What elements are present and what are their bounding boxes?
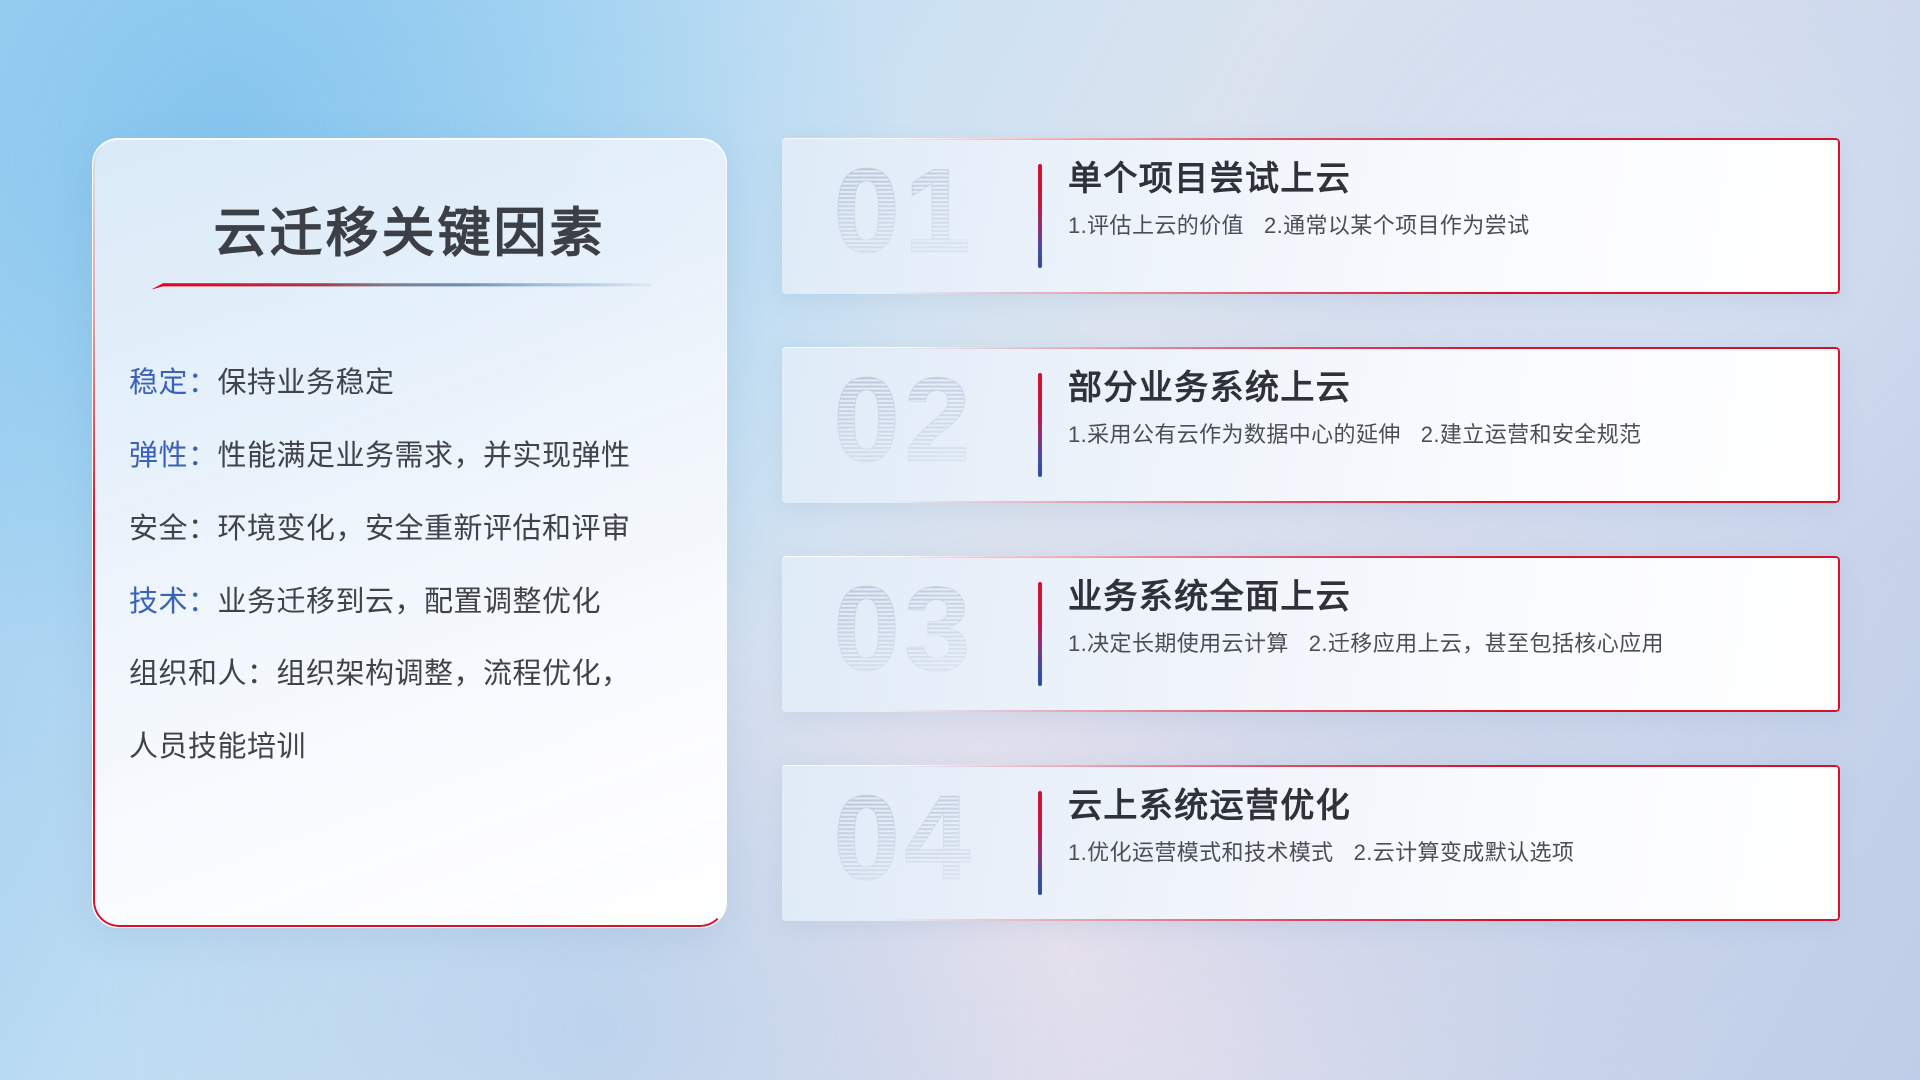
card-title: 业务系统全面上云: [1068, 576, 1814, 620]
list-item: 技术：业务迁移到云，配置调整优化: [129, 583, 696, 622]
card-number-04: 04: [806, 765, 1002, 921]
card-point: 1.评估上云的价值: [1068, 213, 1244, 238]
card-body: 业务系统全面上云 1.决定长期使用云计算2.迁移应用上云，甚至包括核心应用: [1068, 576, 1814, 658]
list-item-text: 业务迁移到云，配置调整优化: [218, 586, 602, 618]
list-item: 稳定：保持业务稳定: [129, 364, 696, 403]
list-item-text: 保持业务稳定: [218, 367, 395, 399]
key-factors-list: 稳定：保持业务稳定 弹性：性能满足业务需求，并实现弹性 安全：环境变化，安全重新…: [129, 364, 696, 767]
svg-text:02: 02: [833, 365, 974, 485]
card-accent-bar: [1038, 582, 1042, 686]
card-body: 单个项目尝试上云 1.评估上云的价值2.通常以某个项目作为尝试: [1068, 158, 1814, 240]
card-point: 1.决定长期使用云计算: [1068, 631, 1289, 656]
stage-card[interactable]: 04 云上系统运营优化 1.优化运营模式和技术模式2.云计算变成默认选项: [782, 765, 1840, 921]
list-item: 人员技能培训: [129, 728, 696, 767]
card-body: 部分业务系统上云 1.采用公有云作为数据中心的延伸2.建立运营和安全规范: [1068, 367, 1814, 449]
card-body: 云上系统运营优化 1.优化运营模式和技术模式2.云计算变成默认选项: [1068, 785, 1814, 867]
card-title: 部分业务系统上云: [1068, 367, 1814, 411]
card-point: 2.通常以某个项目作为尝试: [1264, 213, 1530, 238]
card-point: 2.云计算变成默认选项: [1354, 840, 1575, 865]
card-number-02: 02: [806, 347, 1002, 503]
card-subtitle: 1.采用公有云作为数据中心的延伸2.建立运营和安全规范: [1068, 420, 1814, 450]
card-point: 2.迁移应用上云，甚至包括核心应用: [1309, 631, 1664, 656]
list-item-label: 稳定：: [129, 367, 218, 399]
page-title: 云迁移关键因素: [93, 191, 726, 267]
list-item-text: 环境变化，安全重新评估和评审: [218, 513, 631, 545]
card-point: 1.优化运营模式和技术模式: [1068, 840, 1334, 865]
key-factors-panel: 云迁移关键因素: [92, 138, 727, 928]
card-accent-bar: [1038, 373, 1042, 477]
list-item: 组织和人：组织架构调整，流程优化，: [129, 655, 696, 694]
list-item: 弹性：性能满足业务需求，并实现弹性: [129, 437, 696, 476]
stage-card[interactable]: 02 部分业务系统上云 1.采用公有云作为数据中心的延伸2.建立运营和安全规范: [782, 347, 1840, 503]
list-item-text: 人员技能培训: [129, 731, 306, 763]
svg-text:04: 04: [833, 783, 974, 903]
migration-stage-cards: 01 单个项目尝试上云 1.评估上云的价值2.通常以某个项目作为尝试: [782, 138, 1840, 921]
stage-card[interactable]: 03 业务系统全面上云 1.决定长期使用云计算2.迁移应用上云，甚至包括核心应用: [782, 556, 1840, 712]
stage-card[interactable]: 01 单个项目尝试上云 1.评估上云的价值2.通常以某个项目作为尝试: [782, 138, 1840, 294]
card-subtitle: 1.评估上云的价值2.通常以某个项目作为尝试: [1068, 211, 1814, 241]
card-title: 云上系统运营优化: [1068, 785, 1814, 829]
list-item-text: 组织架构调整，流程优化，: [277, 658, 631, 690]
card-accent-bar: [1038, 791, 1042, 895]
slide-stage: 云迁移关键因素: [0, 0, 1920, 1080]
list-item-text: 性能满足业务需求，并实现弹性: [218, 440, 631, 472]
card-number-01: 01: [806, 138, 1002, 294]
list-item-label: 技术：: [129, 586, 218, 618]
card-subtitle: 1.决定长期使用云计算2.迁移应用上云，甚至包括核心应用: [1068, 629, 1814, 659]
list-item: 安全：环境变化，安全重新评估和评审: [129, 510, 696, 549]
title-divider: [151, 282, 651, 290]
card-subtitle: 1.优化运营模式和技术模式2.云计算变成默认选项: [1068, 838, 1814, 868]
card-point: 1.采用公有云作为数据中心的延伸: [1068, 422, 1401, 447]
card-number-03: 03: [806, 556, 1002, 712]
card-point: 2.建立运营和安全规范: [1421, 422, 1642, 447]
list-item-label: 组织和人：: [129, 658, 277, 690]
svg-text:01: 01: [833, 156, 974, 276]
card-title: 单个项目尝试上云: [1068, 158, 1814, 202]
card-accent-bar: [1038, 164, 1042, 268]
svg-text:03: 03: [833, 574, 974, 694]
list-item-label: 弹性：: [129, 440, 218, 472]
list-item-label: 安全：: [129, 513, 218, 545]
